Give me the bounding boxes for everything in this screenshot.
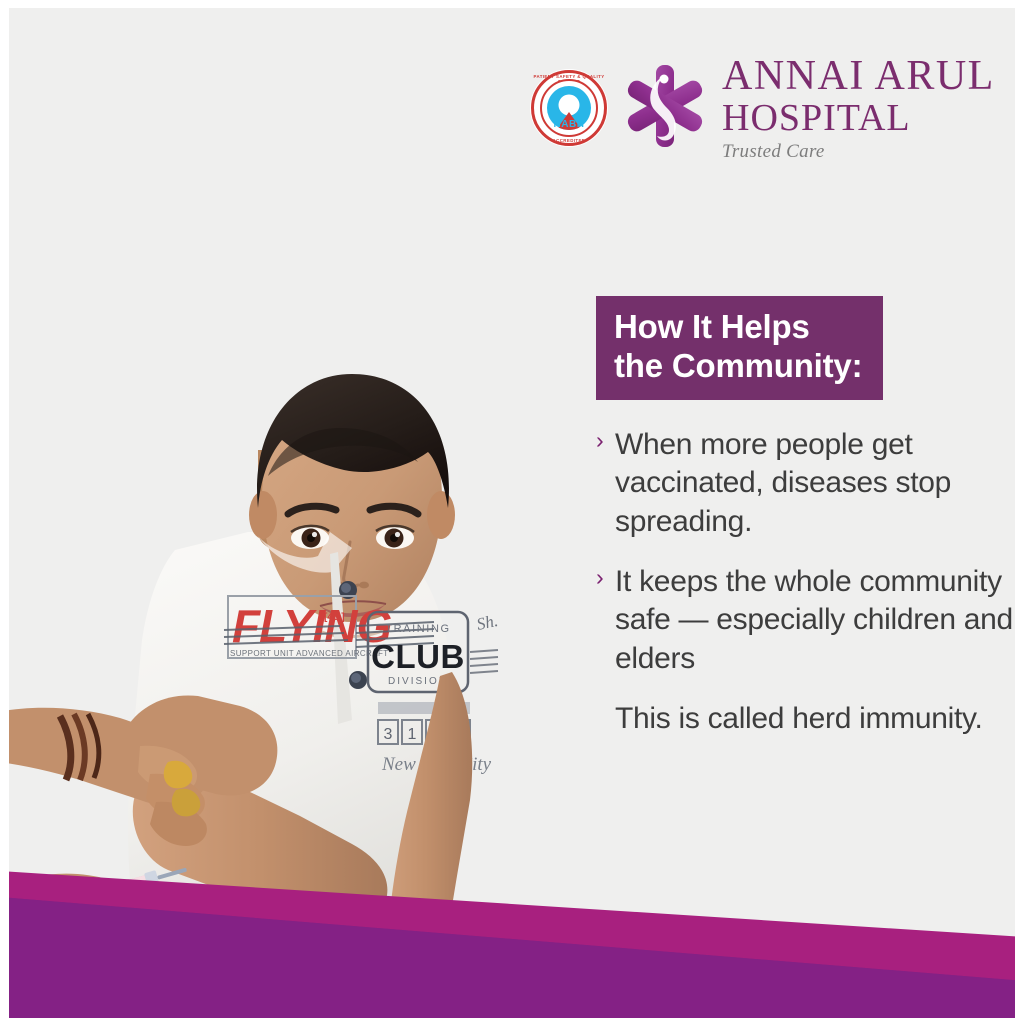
nabh-center-label: NABH [530, 119, 608, 130]
poster: FLYING [46.] SUPPORT UNIT ADVANCED AIRCR… [0, 0, 1024, 1024]
brand-tagline: Trusted Care [722, 142, 995, 161]
svg-text:TRAINING: TRAINING [385, 623, 450, 635]
chevron-right-icon: › [596, 426, 615, 455]
brand-header: PATIENT SAFETY & QUALITY OF CARE NABH AC… [530, 55, 995, 161]
page-title: How It Helps the Community: [614, 308, 867, 386]
copy-column: How It Helps the Community: › When more … [596, 296, 1016, 761]
svg-text:3: 3 [384, 726, 393, 743]
svg-text:[46.]: [46.] [324, 612, 345, 623]
vaccination-photo: FLYING [46.] SUPPORT UNIT ADVANCED AIRCR… [0, 300, 600, 1024]
headline-block: How It Helps the Community: [596, 296, 883, 400]
frame-edge-left [0, 0, 9, 1024]
svg-text:1: 1 [408, 726, 417, 743]
hospital-wordmark: ANNAI ARUL HOSPITAL Trusted Care [722, 55, 995, 161]
frame-edge-right [1015, 0, 1024, 1024]
brand-name-line1: ANNAI ARUL [722, 55, 995, 97]
nabh-accreditation-seal: PATIENT SAFETY & QUALITY OF CARE NABH AC… [530, 69, 608, 147]
list-item-label: It keeps the whole community safe — espe… [615, 563, 1016, 678]
medical-star-caduceus-icon [622, 63, 708, 154]
benefits-list: › When more people get vaccinated, disea… [596, 426, 1016, 739]
list-item: › When more people get vaccinated, disea… [596, 426, 1016, 541]
brand-name-line2: HOSPITAL [722, 99, 995, 137]
list-item: This is called herd immunity. [596, 700, 1016, 738]
frame-edge-bottom [0, 1018, 1024, 1024]
frame-edge-top [0, 0, 1024, 8]
chevron-right-icon: › [596, 563, 615, 592]
nabh-arc-bottom-text: ACCREDITED [530, 138, 608, 143]
list-item-label: When more people get vaccinated, disease… [615, 426, 1016, 541]
list-item-label: This is called herd immunity. [615, 700, 1016, 738]
list-item: › It keeps the whole community safe — es… [596, 563, 1016, 678]
svg-text:SUPPORT UNIT ADVANCED AIRCRAFT: SUPPORT UNIT ADVANCED AIRCRAFT [230, 649, 389, 658]
svg-text:CLUB: CLUB [371, 638, 465, 675]
